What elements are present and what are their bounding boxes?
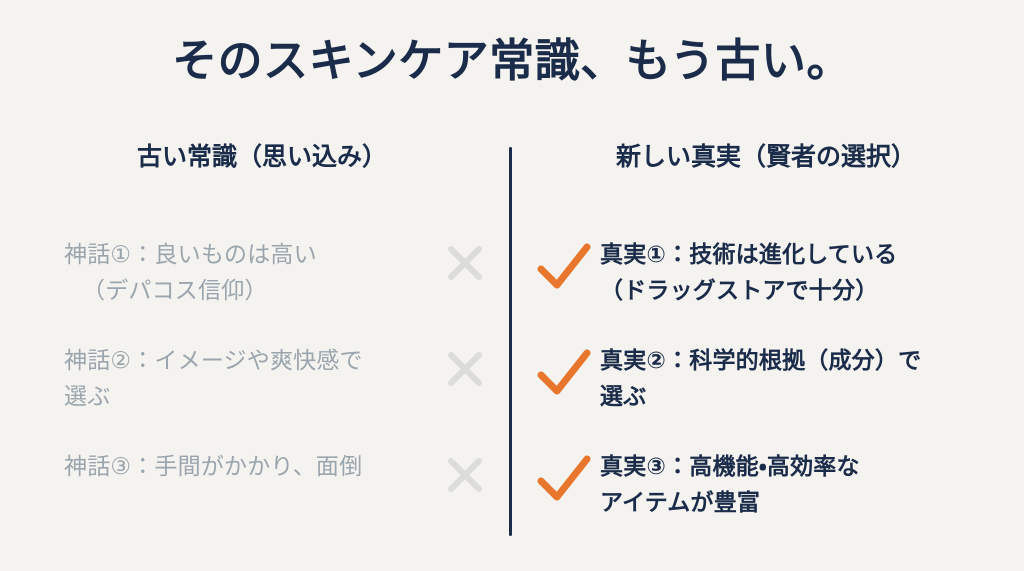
new-truths-list: 真実①：技術は進化している （ドラッグストアで十分） 真実②：科学的根拠（成分）… xyxy=(524,236,1000,534)
myth-line2: （デパコス信仰） xyxy=(64,272,436,308)
list-item: 神話③：手間がかかり、面倒 xyxy=(24,448,494,534)
truth-line2: アイテムが豊富 xyxy=(600,484,1000,520)
page-title: そのスキンケア常識、もう古い。 xyxy=(0,34,1024,88)
myth-text-3: 神話③：手間がかかり、面倒 xyxy=(24,448,442,484)
list-item: 神話①：良いものは高い （デパコス信仰） xyxy=(24,236,494,322)
truth-line2: 選ぶ xyxy=(600,378,1000,414)
old-myths-list: 神話①：良いものは高い （デパコス信仰） 神話②：イメージや爽快感で 選ぶ xyxy=(24,236,494,534)
truth-text-3: 真実③：高機能・高効率な アイテムが豊富 xyxy=(592,448,1000,521)
list-item: 神話②：イメージや爽快感で 選ぶ xyxy=(24,342,494,428)
truth-line1: 真実①：技術は進化している xyxy=(600,241,897,267)
truth-text-2: 真実②：科学的根拠（成分）で 選ぶ xyxy=(592,342,1000,415)
x-icon xyxy=(442,346,488,392)
truth-line1: 真実③：高機能・高効率な xyxy=(600,453,860,479)
truth-line1: 真実②：科学的根拠（成分）で xyxy=(600,347,921,373)
list-item: 真実①：技術は進化している （ドラッグストアで十分） xyxy=(524,236,1000,322)
list-item: 真実②：科学的根拠（成分）で 選ぶ xyxy=(524,342,1000,428)
column-divider xyxy=(509,147,512,536)
old-myths-column: 古い常識（思い込み） 神話①：良いものは高い （デパコス信仰） 神話②：イメージ… xyxy=(24,140,494,175)
myth-text-2: 神話②：イメージや爽快感で 選ぶ xyxy=(24,342,442,415)
truth-line2: （ドラッグストアで十分） xyxy=(600,272,1000,308)
new-truths-column: 新しい真実（賢者の選択） 真実①：技術は進化している （ドラッグストアで十分） xyxy=(524,140,1000,175)
x-icon xyxy=(442,240,488,286)
slide-canvas: そのスキンケア常識、もう古い。 古い常識（思い込み） 神話①：良いものは高い （… xyxy=(0,0,1024,571)
myth-line1: 神話①：良いものは高い xyxy=(64,241,317,267)
check-icon xyxy=(536,348,592,400)
myth-line1: 神話②：イメージや爽快感で xyxy=(64,347,363,373)
x-icon xyxy=(442,452,488,498)
myth-line1: 神話③：手間がかかり、面倒 xyxy=(64,453,362,479)
myth-text-1: 神話①：良いものは高い （デパコス信仰） xyxy=(24,236,442,309)
list-item: 真実③：高機能・高効率な アイテムが豊富 xyxy=(524,448,1000,534)
check-icon xyxy=(536,242,592,294)
truth-text-1: 真実①：技術は進化している （ドラッグストアで十分） xyxy=(592,236,1000,309)
myth-line2: 選ぶ xyxy=(64,378,436,414)
check-icon xyxy=(536,454,592,506)
old-myths-header: 古い常識（思い込み） xyxy=(24,140,494,175)
new-truths-header: 新しい真実（賢者の選択） xyxy=(524,140,1000,175)
